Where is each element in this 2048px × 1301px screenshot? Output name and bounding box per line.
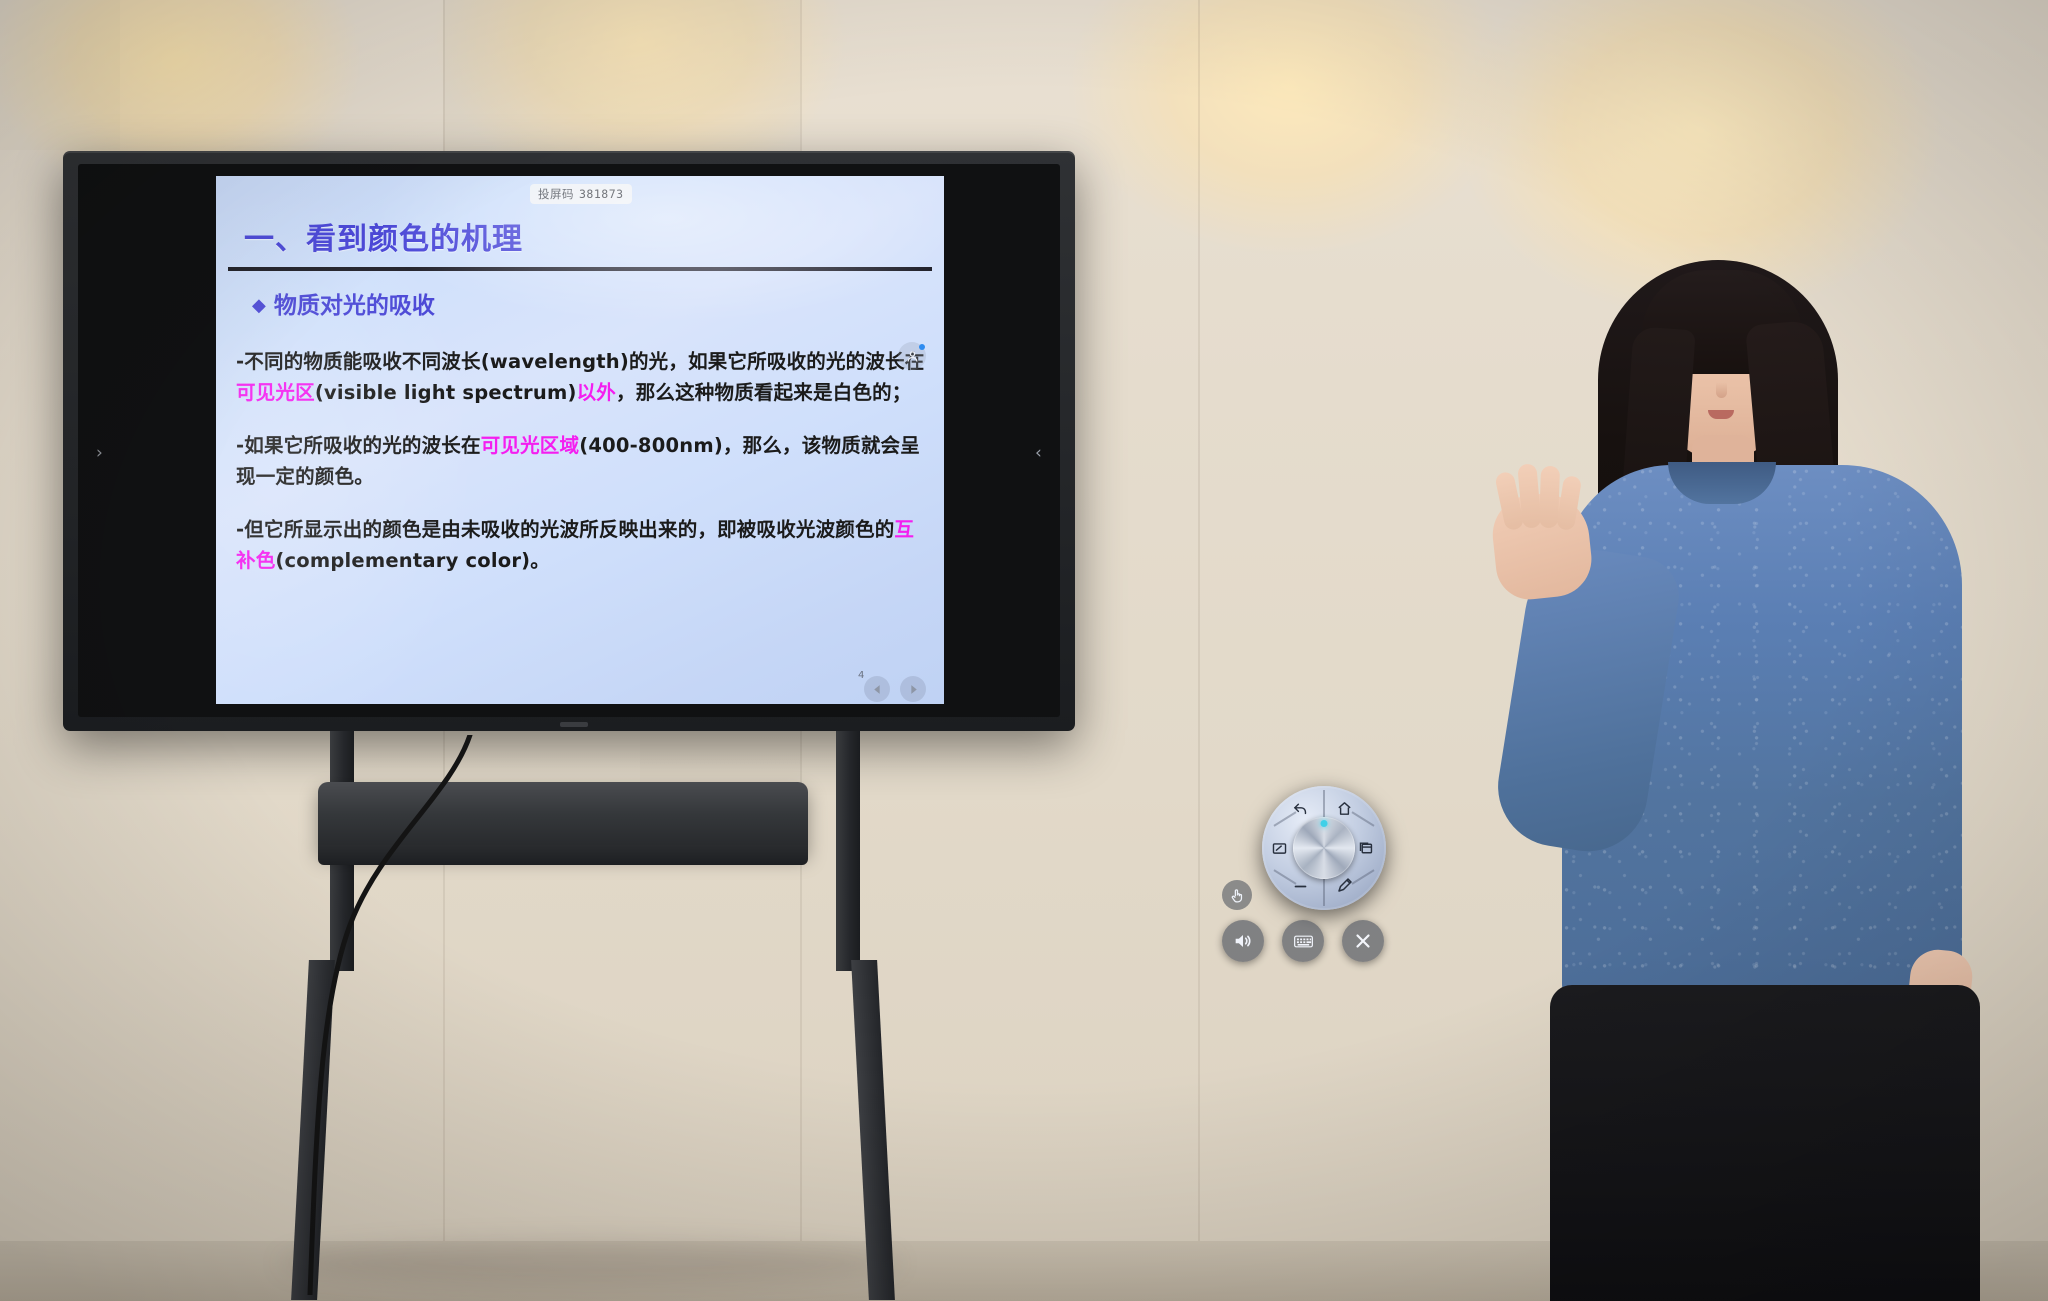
participant-status-dot [919,344,925,350]
hand-pointer-icon [1229,887,1246,904]
body-text: (complementary color)。 [275,549,550,572]
bezel-right-handle[interactable]: ‹ [1035,443,1042,463]
highlighted-term: 可见光区 [236,381,315,404]
bullet-heading-text: 物质对光的吸收 [274,293,435,319]
projection-code-badge: 投屏码381873 [530,184,632,204]
osd-button-row[interactable] [1222,920,1384,962]
presenter-nose [1716,382,1727,398]
slide-navigation[interactable] [864,676,926,702]
presentation-slide: 投屏码381873 一、看到颜色的机理 ◆物质对光的吸收 -不同的物质能吸收不同… [216,176,944,704]
wheel-spoke [1323,878,1325,906]
participant-icon[interactable] [898,342,926,370]
wheel-center-dial[interactable] [1293,817,1355,879]
wheel-pen-button[interactable] [1336,876,1354,894]
next-slide-button[interactable] [900,676,926,702]
keyboard-icon [1292,930,1315,953]
slide-bullet-heading: ◆物质对光的吸收 [252,286,435,320]
body-text: ，那么这种物质看起来是白色的； [616,381,912,404]
speaker-icon [1232,930,1254,952]
slide-title: 一、看到颜色的机理 [244,214,523,258]
volume-button[interactable] [1222,920,1264,962]
projection-code-label: 投屏码 [538,187,574,201]
display-logo [560,722,588,727]
projection-code-value: 381873 [579,187,624,201]
keyboard-button[interactable] [1282,920,1324,962]
pen-icon [1336,876,1354,894]
home-icon [1336,800,1353,817]
stand-post-right [836,731,860,971]
highlighted-term: 以外 [577,381,616,404]
wall-panel [443,0,800,168]
back-arrow-icon [1292,800,1309,817]
slide-body: -不同的物质能吸收不同波长(wavelength)的光，如果它所吸收的光的波长在… [236,346,930,598]
display-screen[interactable]: 投屏码381873 一、看到颜色的机理 ◆物质对光的吸收 -不同的物质能吸收不同… [216,176,944,704]
presenter-skirt [1550,985,1980,1301]
next-slide-icon [907,683,920,696]
whiteboard-icon [1271,840,1288,857]
wheel-whiteboard-button[interactable] [1271,840,1288,857]
window-icon [1358,840,1375,857]
wall-seam [1198,0,1200,1301]
screenshot-root: 投屏码381873 一、看到颜色的机理 ◆物质对光的吸收 -不同的物质能吸收不同… [0,0,2048,1301]
title-divider [228,267,932,271]
body-text: -不同的物质能吸收不同波长(wavelength)的光，如果它所吸收的光的波长在 [236,350,924,373]
wheel-home-button[interactable] [1336,800,1353,817]
slide-paragraph: -但它所显示出的颜色是由未吸收的光波所反映出来的，即被吸收光波颜色的互补色(co… [236,514,930,576]
wheel-window-button[interactable] [1358,840,1375,857]
slide-paragraph: -不同的物质能吸收不同波长(wavelength)的光，如果它所吸收的光的波长在… [236,346,930,408]
touch-mode-button[interactable] [1222,880,1252,910]
close-button[interactable] [1342,920,1384,962]
osd-control-wheel[interactable] [1262,786,1386,910]
presenter [1540,250,2010,1301]
body-text: -如果它所吸收的光的波长在 [236,434,481,457]
slide-paragraph: -如果它所吸收的光的波长在可见光区域(400-800nm)，那么，该物质就会呈现… [236,430,930,492]
bezel-left-handle[interactable]: › [96,443,103,463]
minus-icon [1292,878,1309,895]
prev-slide-button[interactable] [864,676,890,702]
wheel-minus-button[interactable] [1292,878,1309,895]
body-text: (visible light spectrum) [315,381,577,404]
body-text: -但它所显示出的颜色是由未吸收的光波所反映出来的，即被吸收光波颜色的 [236,518,894,541]
diamond-bullet-icon: ◆ [252,295,266,316]
person-icon [905,349,920,364]
wheel-spoke [1323,790,1325,818]
prev-slide-icon [871,683,884,696]
wall-panel [0,0,120,150]
close-icon [1352,930,1374,952]
highlighted-term: 可见光区域 [481,434,580,457]
power-cable [260,735,520,1295]
wheel-back-button[interactable] [1292,800,1309,817]
